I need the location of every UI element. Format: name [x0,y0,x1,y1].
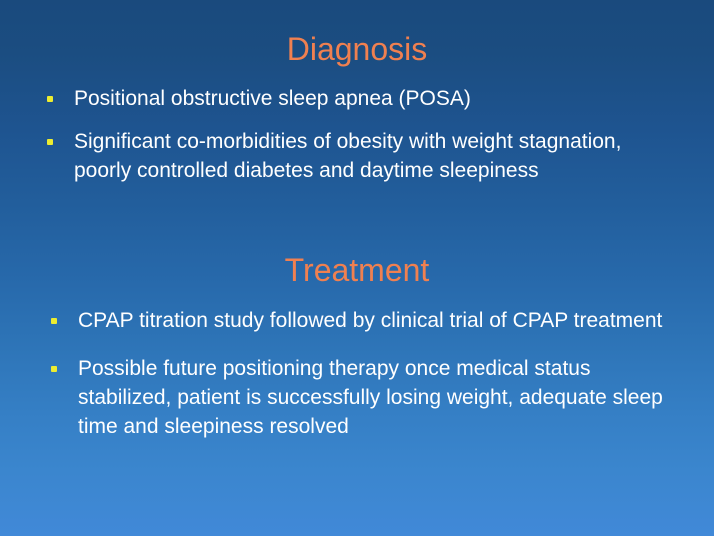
list-item: Possible future positioning therapy once… [42,354,682,441]
presentation-slide: Diagnosis Positional obstructive sleep a… [0,0,714,536]
list-item-text: CPAP titration study followed by clinica… [78,306,682,335]
list-item: Significant co-morbidities of obesity wi… [38,127,678,185]
list-item: CPAP titration study followed by clinica… [42,306,682,335]
bullet-dot-icon [51,318,57,324]
section-heading-treatment: Treatment [0,251,714,289]
bullet-list-treatment: CPAP titration study followed by clinica… [42,306,682,460]
list-item-text: Significant co-morbidities of obesity wi… [74,127,678,185]
list-item: Positional obstructive sleep apnea (POSA… [38,84,678,113]
bullet-dot-icon [47,139,53,145]
bullet-dot-icon [47,96,53,102]
list-item-text: Positional obstructive sleep apnea (POSA… [74,84,678,113]
section-heading-diagnosis: Diagnosis [0,30,714,68]
bullet-dot-icon [51,366,57,372]
list-item-text: Possible future positioning therapy once… [78,354,682,441]
bullet-list-diagnosis: Positional obstructive sleep apnea (POSA… [38,84,678,185]
